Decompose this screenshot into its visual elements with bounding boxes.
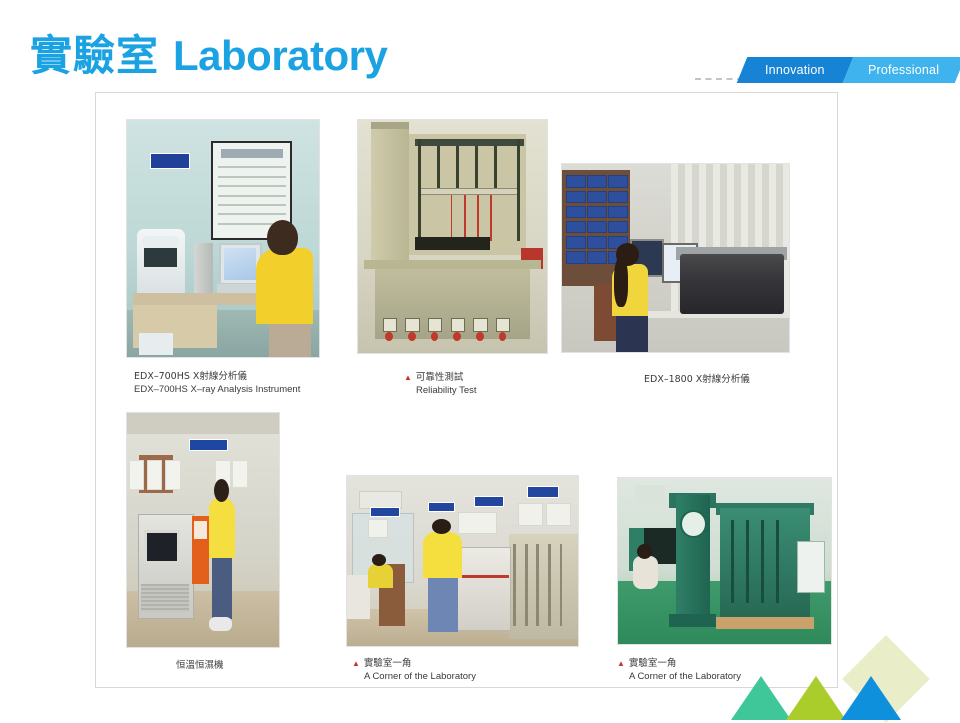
photo-edx-1800 xyxy=(561,163,790,353)
photo-edx-700hs xyxy=(126,119,320,358)
ribbon-segment-innovation: Innovation xyxy=(737,57,854,83)
caption-lab-corner-2-chinese: 實驗室一角 xyxy=(629,658,677,669)
brand-ribbon: Innovation Professional xyxy=(695,57,960,83)
ribbon-dashed-line xyxy=(695,78,743,80)
caption-edx-700hs: EDX–700HS X射線分析儀 EDX–700HS X–ray Analysi… xyxy=(134,370,300,396)
caption-reliability-test: ▲可靠性測試 Reliability Test xyxy=(404,371,477,397)
caption-lab-corner-1-english: A Corner of the Laboratory xyxy=(364,671,476,682)
caption-lab-corner-2: ▲實驗室一角 A Corner of the Laboratory xyxy=(617,657,741,683)
slide-root: 實驗室 Laboratory Innovation Professional xyxy=(0,0,960,720)
decor-triangle-blue xyxy=(841,676,901,720)
bullet-triangle-icon: ▲ xyxy=(352,659,360,668)
caption-humidity-chamber-chinese: 恒溫恒濕機 xyxy=(176,660,224,671)
photo-lab-corner-1 xyxy=(346,475,579,647)
ribbon-segment-professional: Professional xyxy=(843,57,960,83)
bullet-triangle-icon: ▲ xyxy=(404,373,412,382)
caption-lab-corner-1-chinese: 實驗室一角 xyxy=(364,658,412,669)
caption-lab-corner-2-english: A Corner of the Laboratory xyxy=(629,671,741,682)
decor-triangle-teal xyxy=(731,676,791,720)
caption-reliability-test-english: Reliability Test xyxy=(416,385,477,396)
caption-humidity-chamber: 恒溫恒濕機 xyxy=(176,659,224,672)
caption-edx-700hs-chinese: EDX–700HS X射線分析儀 xyxy=(134,371,247,382)
page-title-chinese: 實驗室 xyxy=(30,22,159,83)
bullet-triangle-icon: ▲ xyxy=(617,659,625,668)
caption-edx-1800-chinese: EDX–1800 X射線分析儀 xyxy=(644,374,750,385)
caption-reliability-test-chinese: 可靠性測試 xyxy=(416,372,464,383)
page-title: 實驗室 Laboratory xyxy=(30,22,387,83)
photo-lab-corner-2 xyxy=(617,477,832,645)
ribbon-label-professional: Professional xyxy=(868,63,939,77)
caption-edx-1800: EDX–1800 X射線分析儀 xyxy=(644,373,750,386)
photo-humidity-chamber xyxy=(126,412,280,648)
page-title-english: Laboratory xyxy=(173,32,387,80)
caption-lab-corner-1: ▲實驗室一角 A Corner of the Laboratory xyxy=(352,657,476,683)
caption-edx-700hs-english: EDX–700HS X–ray Analysis Instrument xyxy=(134,384,300,395)
ribbon-label-innovation: Innovation xyxy=(765,63,825,77)
photo-reliability-test xyxy=(357,119,548,354)
decor-triangle-green xyxy=(786,676,846,720)
